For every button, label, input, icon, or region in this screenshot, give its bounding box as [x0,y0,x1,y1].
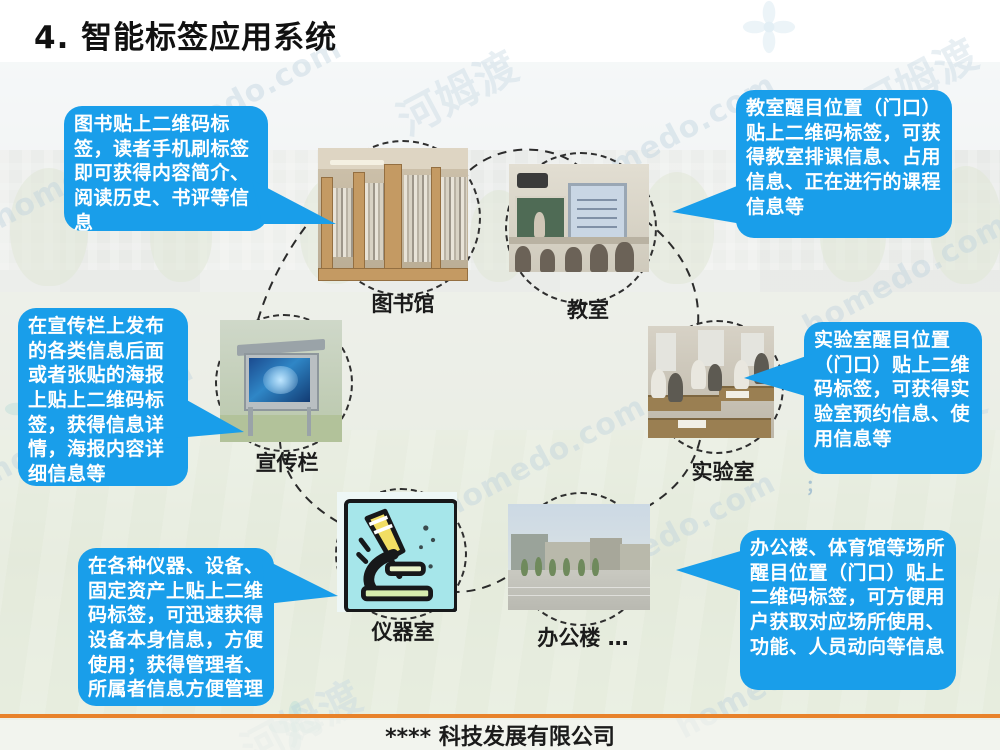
node-label-office: 办公楼 … [473,622,693,652]
bulletin-callout[interactable]: 在宣传栏上发布的各类信息后面或者张贴的海报上贴上二维码标签，获得信息详情，海报内… [18,308,188,486]
library-photo [318,148,468,281]
office-callout-tail [676,548,746,600]
office-callout[interactable]: 办公楼、体育馆等场所醒目位置（门口）贴上二维码标签，可方便用户获取对应场所使用、… [740,530,956,690]
laboratory-callout-tail [744,352,814,406]
bulletin-callout-tail [176,392,246,446]
node-label-bulletin: 宣传栏 [177,447,397,477]
node-library[interactable]: 图书馆 [318,140,488,325]
instrument-callout[interactable]: 在各种仪器、设备、固定资产上贴上二维码标签，可迅速获得设备本身信息，方便使用；获… [78,548,274,706]
node-laboratory[interactable]: 实验室 [648,318,798,498]
laboratory-callout[interactable]: 实验室醒目位置（门口）贴上二维码标签，可获得实验室预约信息、使用信息等 [804,322,982,474]
classroom-callout-tail [672,182,744,232]
node-label-laboratory: 实验室 [613,456,833,486]
slide-canvas: homedo.com homedo.com 河姆渡 homedo.com 河姆渡… [0,0,1000,750]
microscope-icon [337,492,457,612]
footer-text: **** 科技发展有限公司 [0,719,1000,750]
node-office[interactable]: 办公楼 … [508,492,658,662]
classroom-photo [509,164,649,272]
classroom-callout[interactable]: 教室醒目位置（门口）贴上二维码标签，可获得教室排课信息、占用信息、正在进行的课程… [736,90,952,238]
office-building-photo [508,504,650,610]
node-instrument[interactable]: 仪器室 [333,488,473,658]
instrument-callout-tail [262,556,340,610]
laboratory-callout-overflow: ； [806,472,846,502]
node-classroom[interactable]: 教室 [503,152,673,332]
library-callout[interactable]: 图书贴上二维码标签，读者手机刷标签即可获得内容简介、阅读历史、书评等信息 [64,106,268,231]
library-callout-tail [252,176,338,236]
